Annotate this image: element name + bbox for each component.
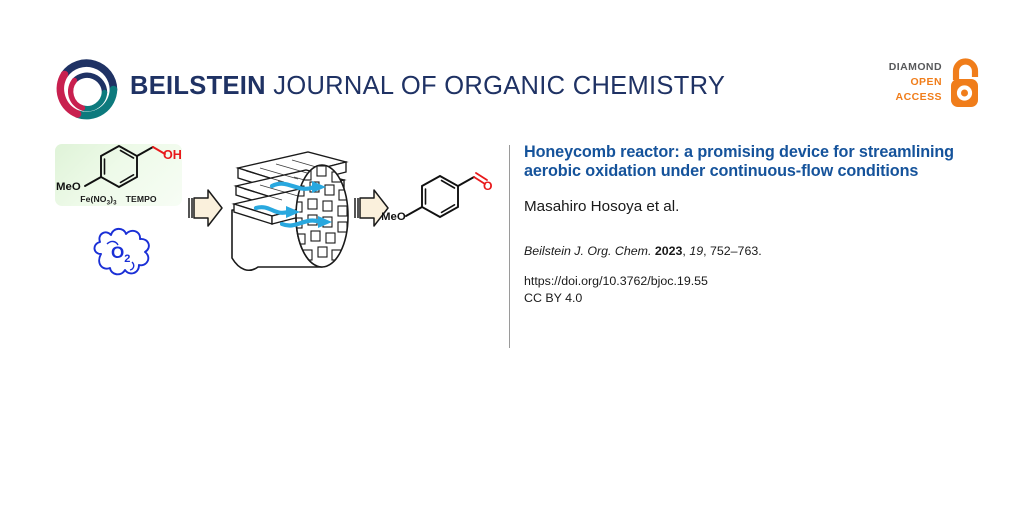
open-access-label-group: DIAMOND OPEN ACCESS	[866, 60, 942, 105]
open-padlock-icon	[948, 58, 988, 110]
article-license: CC BY 4.0	[524, 290, 994, 308]
graphical-abstract: MeO OH Fe(NO3)3TEMPO O2	[0, 126, 510, 296]
journal-name: BEILSTEIN JOURNAL OF ORGANIC CHEMISTRY	[130, 72, 725, 101]
svg-text:O: O	[483, 179, 492, 193]
flow-inlet-arrow-icon	[186, 184, 226, 232]
svg-text:MeO: MeO	[382, 211, 406, 223]
beilstein-spiral-logo-icon	[52, 52, 122, 122]
article-title[interactable]: Honeycomb reactor: a promising device fo…	[524, 143, 994, 182]
diamond-open-access-badge: DIAMOND OPEN ACCESS	[866, 58, 988, 112]
open-access-line-access: ACCESS	[866, 90, 942, 105]
journal-cover-page: BEILSTEIN JOURNAL OF ORGANIC CHEMISTRY D…	[0, 0, 1024, 512]
reagents-label: Fe(NO3)3TEMPO	[55, 194, 182, 207]
article-authors: Masahiro Hosoya et al.	[524, 198, 994, 215]
reactant-structure-4-methoxybenzyl-alcohol: MeO OH	[55, 140, 182, 196]
svg-text:OH: OH	[163, 148, 182, 162]
article-doi-link[interactable]: https://doi.org/10.3762/bjoc.19.55	[524, 273, 994, 291]
journal-name-brand: BEILSTEIN	[130, 72, 266, 100]
citation-volume: 19	[689, 244, 703, 258]
svg-text:O2: O2	[111, 243, 130, 265]
vertical-divider	[509, 145, 510, 348]
cocatalyst-label: TEMPO	[126, 194, 157, 204]
product-structure-4-methoxybenzaldehyde: O MeO	[382, 168, 500, 228]
honeycomb-monolith-reactor-icon	[222, 138, 362, 278]
oxygen-gas-cloud-icon: O2	[85, 224, 161, 282]
journal-masthead: BEILSTEIN JOURNAL OF ORGANIC CHEMISTRY D…	[0, 0, 1024, 130]
citation-year: 2023	[655, 244, 683, 258]
citation-pages: , 752–763.	[703, 244, 762, 258]
article-citation: Beilstein J. Org. Chem. 2023, 19, 752–76…	[524, 244, 994, 258]
open-access-line-diamond: DIAMOND	[866, 60, 942, 75]
journal-name-rest: JOURNAL OF ORGANIC CHEMISTRY	[273, 72, 725, 100]
catalyst-label: Fe(NO3)3	[80, 194, 116, 204]
svg-text:MeO: MeO	[56, 181, 81, 193]
citation-journal: Beilstein J. Org. Chem.	[524, 244, 655, 258]
open-access-line-open: OPEN	[866, 75, 942, 90]
article-metadata: Honeycomb reactor: a promising device fo…	[524, 143, 994, 308]
